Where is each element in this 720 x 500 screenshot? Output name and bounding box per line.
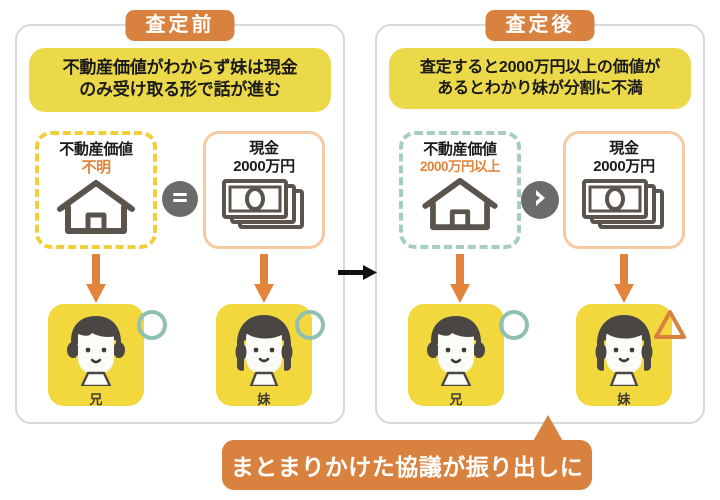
- asset-card-title: 現金: [566, 140, 682, 158]
- asset-card-cash: 現金 2000万円: [203, 131, 325, 249]
- headline-line-2: のみ受け取る形で話が進む: [37, 79, 323, 101]
- circle-ok-icon: [293, 308, 327, 342]
- asset-card-value: 不明: [39, 159, 153, 177]
- circle-ok-icon: [497, 308, 531, 342]
- asset-card-title: 不動産価値: [403, 141, 517, 159]
- woman-avatar-icon: [227, 373, 301, 390]
- chevron-right-icon: [529, 187, 551, 214]
- headline-after: 査定すると2000万円以上の価値が あるとわかり妹が分割に不満: [389, 48, 691, 109]
- headline-before: 不動産価値がわからず妹は現金 のみ受け取る形で話が進む: [29, 48, 331, 112]
- arrow-down-to-brother-icon: [449, 254, 471, 306]
- headline-line-1: 不動産価値がわからず妹は現金: [37, 57, 323, 79]
- person-label: 兄: [408, 389, 504, 408]
- panel-after-assessment: 査定後 査定すると2000万円以上の価値が あるとわかり妹が分割に不満 不動産価…: [375, 24, 705, 424]
- asset-row-before: 不動産価値 不明 現金 2000万円: [17, 131, 343, 251]
- woman-avatar-icon: [587, 373, 661, 390]
- panel-before-assessment: 査定前 不動産価値がわからず妹は現金 のみ受け取る形で話が進む 不動産価値 不明: [15, 24, 345, 424]
- man-avatar-icon: [419, 373, 493, 390]
- arrow-right-icon: [338, 262, 378, 284]
- asset-card-real-estate: 不動産価値 2000万円以上: [399, 131, 521, 249]
- asset-card-title: 現金: [206, 140, 322, 158]
- banner-pointer-tail: [531, 415, 565, 443]
- equals-icon: [170, 187, 190, 212]
- person-card-brother: 兄: [408, 304, 504, 406]
- arrow-down-to-brother-icon: [85, 254, 107, 306]
- asset-card-value: 2000万円: [206, 158, 322, 176]
- asset-card-value: 2000万円: [566, 158, 682, 176]
- operator-badge-greater-than: [521, 181, 559, 219]
- asset-card-title: 不動産価値: [39, 141, 153, 159]
- person-label: 妹: [576, 389, 672, 408]
- asset-card-cash: 現金 2000万円: [563, 131, 685, 249]
- panel-title-badge-after: 査定後: [486, 10, 595, 41]
- person-label: 妹: [216, 389, 312, 408]
- asset-row-after: 不動産価値 2000万円以上 現金 2000万円: [377, 131, 703, 251]
- headline-line-2: あるとわかり妹が分割に不満: [397, 78, 683, 99]
- banknotes-icon: [206, 177, 322, 235]
- triangle-warning-icon: [653, 308, 687, 342]
- person-card-brother: 兄: [48, 304, 144, 406]
- headline-line-1: 査定すると2000万円以上の価値が: [397, 57, 683, 78]
- operator-badge-equals: [162, 181, 198, 217]
- house-icon: [403, 177, 517, 233]
- asset-card-real-estate: 不動産価値 不明: [35, 131, 157, 249]
- man-avatar-icon: [59, 373, 133, 390]
- circle-ok-icon: [135, 308, 169, 342]
- arrow-down-to-sister-icon: [253, 254, 275, 306]
- panel-title-badge-before: 査定前: [126, 10, 235, 41]
- arrow-down-to-sister-icon: [613, 254, 635, 306]
- bottom-banner: まとまりかけた協議が振り出しに: [222, 440, 592, 490]
- bottom-banner-text: まとまりかけた協議が振り出しに: [231, 448, 584, 482]
- banknotes-icon: [566, 177, 682, 235]
- house-icon: [39, 179, 153, 237]
- asset-card-value: 2000万円以上: [403, 159, 517, 175]
- person-label: 兄: [48, 389, 144, 408]
